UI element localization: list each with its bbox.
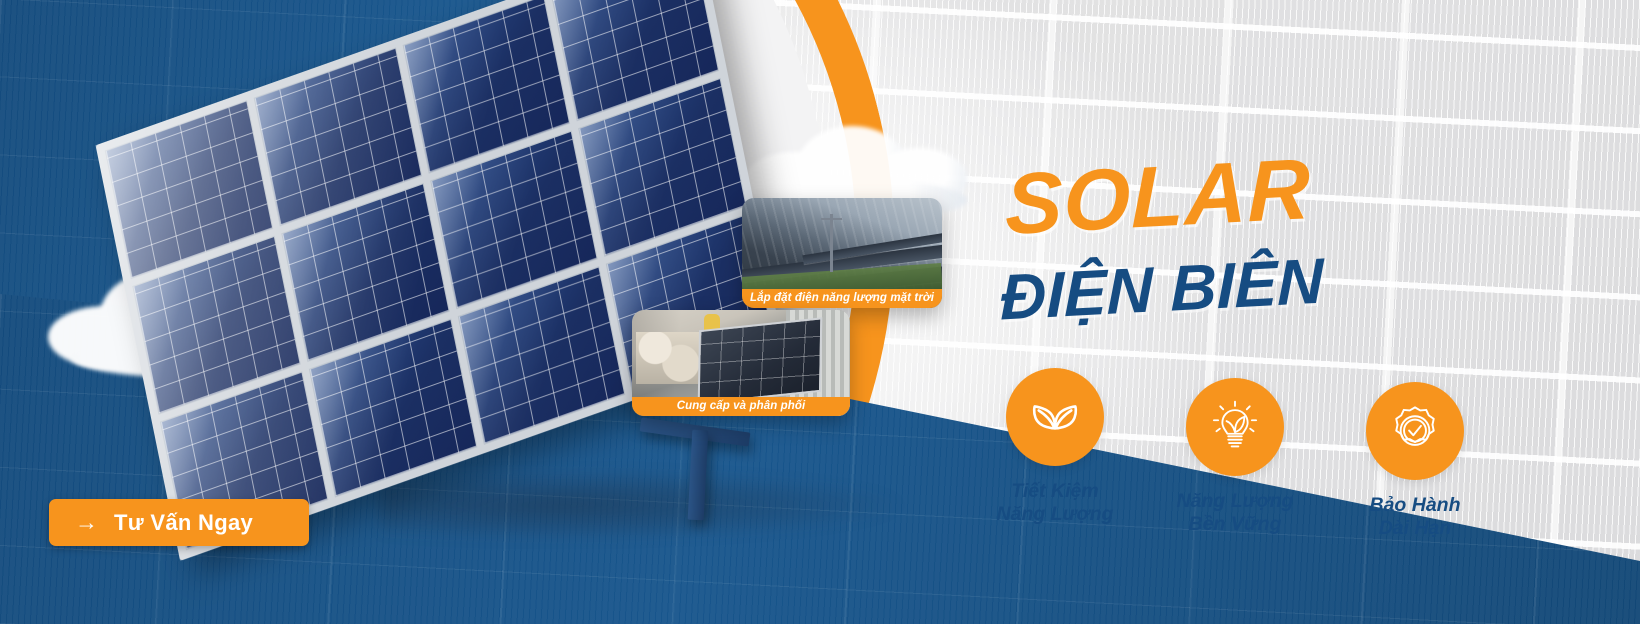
consult-now-button-label: Tư Vấn Ngay [114,510,253,536]
panel-ground-shadow [380,470,900,540]
photo-card-installation[interactable]: Lắp đặt điện năng lượng mặt trời [742,198,942,308]
feature-label: Năng Lượng Bền Vững [1177,490,1294,536]
solar-hero-banner: Lắp đặt điện năng lượng mặt trời Cung cấ… [0,0,1640,624]
badge-check-icon-circle [1366,382,1464,480]
leaf-icon-circle [1006,368,1104,466]
badge-check-icon [1388,404,1442,458]
feature-item-warranty[interactable]: Bảo Hành Dài Hạn [1335,382,1495,540]
feature-item-energy-saving[interactable]: Tiết Kiệm Năng Lượng [975,368,1135,526]
feature-label: Bảo Hành Dài Hạn [1369,494,1460,540]
feature-list: Tiết Kiệm Năng Lượng Năng [975,368,1495,540]
lightbulb-leaf-icon-circle [1186,378,1284,476]
photo-card-distribution[interactable]: Cung cấp và phân phối [632,310,850,416]
lightbulb-leaf-icon [1208,400,1262,454]
photo-card-caption: Cung cấp và phân phối [632,397,850,416]
arrow-right-icon: → [75,511,98,534]
photo-card-caption: Lắp đặt điện năng lượng mặt trời [742,289,942,308]
feature-label: Tiết Kiệm Năng Lượng [997,480,1114,526]
consult-now-button[interactable]: → Tư Vấn Ngay [49,499,309,546]
feature-item-sustainable-energy[interactable]: Năng Lượng Bền Vững [1155,378,1315,536]
leaf-icon [1029,391,1081,443]
